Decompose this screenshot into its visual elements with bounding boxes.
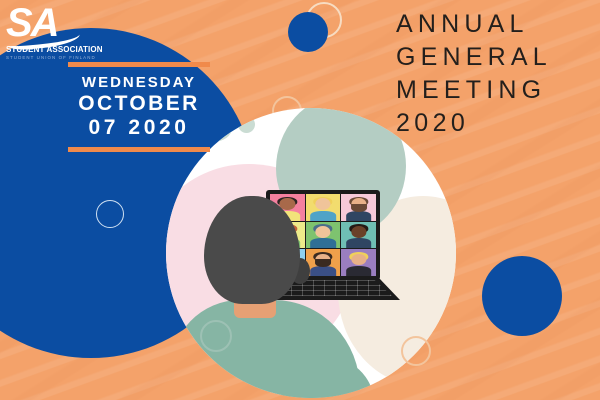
avatar-head	[351, 254, 366, 266]
avatar-head	[351, 226, 366, 238]
poster-canvas: SA STUDENT ASSOCIATION STUDENT UNION OF …	[0, 0, 600, 400]
ring-outline-on-blue-icon	[96, 200, 124, 228]
avatar-head	[315, 226, 330, 238]
ring-outline-near-laptop-icon	[401, 336, 431, 366]
logo: SA STUDENT ASSOCIATION STUDENT UNION OF …	[6, 4, 98, 60]
avatar-head	[315, 198, 330, 210]
avatar-body	[346, 211, 372, 221]
video-tile	[306, 194, 341, 221]
date-rule-top	[68, 62, 210, 67]
avatar-body	[346, 238, 372, 248]
video-tile	[306, 249, 341, 276]
logo-subtitle: STUDENT UNION OF FINLAND	[6, 55, 98, 60]
person-hair	[204, 196, 300, 304]
date-month: OCTOBER	[68, 92, 210, 117]
headline-line-2: GENERAL	[396, 41, 594, 74]
headline-year: 2020	[396, 107, 594, 140]
person-arm	[282, 356, 374, 398]
video-tile	[341, 194, 376, 221]
headline-line-1: ANNUAL	[396, 8, 594, 41]
page-title: ANNUAL GENERAL MEETING 2020	[396, 8, 594, 140]
avatar-body	[310, 266, 336, 276]
date-day-year: 07 2020	[68, 116, 210, 141]
video-tile	[341, 249, 376, 276]
speech-bubble-small-icon	[238, 116, 255, 133]
date-rule-bottom	[68, 147, 210, 152]
ring-outline-bottom-icon	[200, 320, 232, 352]
video-tile	[341, 222, 376, 249]
avatar-beard	[351, 204, 367, 212]
headline-line-3: MEETING	[396, 74, 594, 107]
avatar-body	[346, 266, 372, 276]
avatar-body	[310, 211, 336, 221]
video-tile	[306, 222, 341, 249]
avatar-beard	[315, 259, 331, 267]
blue-dot-right-icon	[482, 256, 562, 336]
blue-dot-top-icon	[288, 12, 328, 52]
date-block: WEDNESDAY OCTOBER 07 2020	[68, 62, 210, 152]
avatar-body	[310, 238, 336, 248]
date-weekday: WEDNESDAY	[68, 74, 210, 92]
